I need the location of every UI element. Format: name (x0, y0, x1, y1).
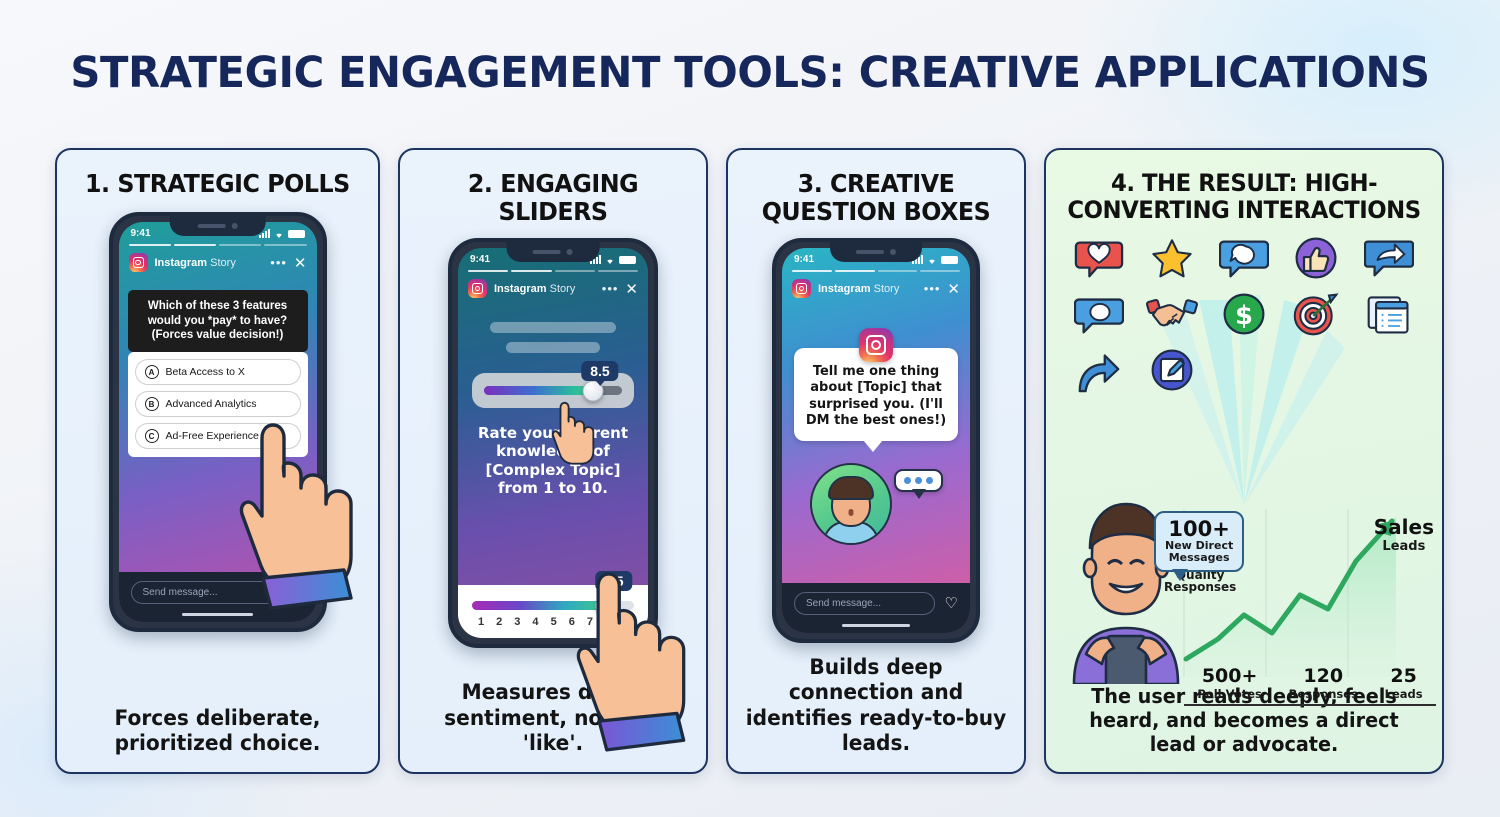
poll-question: Which of these 3 features would you *pay… (128, 290, 308, 352)
avatar-mouth (848, 509, 853, 516)
option-label: Ad-Free Experience (166, 430, 259, 442)
story-reply-bar: Send message... ♡ (782, 583, 970, 621)
callout-value: 100+ (1165, 518, 1233, 541)
stat-poll-votes: 500+ Poll Votes (1197, 667, 1262, 701)
panels-row: 1. STRATEGIC POLLS 9:41 (55, 148, 1447, 774)
edit-square-icon (1146, 344, 1198, 396)
story-header: Instagram Story ••• ✕ (782, 272, 970, 302)
status-time: 9:41 (794, 254, 814, 265)
stat-label: Responses (1289, 687, 1358, 701)
battery-icon (941, 256, 958, 264)
new-direct-messages-callout: 100+ New Direct Messages (1154, 511, 1244, 572)
comment-bubble-icon (1073, 288, 1125, 340)
poll-options-card: A Beta Access to X B Advanced Analytics … (128, 352, 308, 457)
instagram-logo-icon (468, 279, 487, 298)
sales-sub: Leads (1374, 539, 1434, 554)
scale-value-bubble: 8.5 (595, 571, 632, 591)
scale-tick: 5 (545, 616, 563, 628)
panel-engaging-sliders[interactable]: 2. ENGAGING SLIDERS 9:41 (398, 148, 708, 774)
result-visualization: 100+ New Direct Messages 120 Quality Res… (1046, 396, 1442, 772)
close-icon[interactable]: ✕ (625, 280, 638, 298)
stat-leads: 25 Leads (1385, 667, 1423, 701)
more-options-icon[interactable]: ••• (924, 281, 941, 296)
slider-track[interactable] (484, 386, 622, 395)
scale-tick: 8 (599, 616, 617, 628)
scale-tick: 7 (581, 616, 599, 628)
phone-notch (830, 242, 922, 262)
placeholder-text-lines (458, 302, 648, 359)
typing-bubble-icon (894, 469, 943, 492)
heart-icon[interactable]: ♡ (291, 583, 304, 601)
scale-fill (472, 601, 605, 610)
handshake-icon (1146, 288, 1198, 340)
story-title: Instagram Story (818, 283, 917, 295)
user-avatar-group (782, 463, 970, 545)
sales-leads-label: Sales Leads (1374, 515, 1434, 554)
story-reply-bar: Send message... ♡ (119, 572, 317, 610)
stat-value: 25 (1385, 667, 1423, 687)
home-indicator (119, 610, 317, 623)
stat-responses: 120 Responses (1289, 667, 1358, 701)
story-header: Instagram Story ••• ✕ (119, 246, 317, 276)
slider-fill (484, 386, 593, 395)
close-icon[interactable]: ✕ (294, 254, 307, 272)
option-letter: C (145, 429, 159, 443)
panel-the-result[interactable]: 4. THE RESULT: HIGH-CONVERTING INTERACTI… (1044, 148, 1444, 774)
option-label: Advanced Analytics (166, 398, 257, 410)
scale-tick: 6 (563, 616, 581, 628)
story-slider-widget[interactable]: 8.5 (472, 373, 634, 408)
stat-value: 120 (1289, 667, 1358, 687)
panel-2-caption: Measures depth sentiment, not just 'like… (406, 680, 700, 756)
send-message-input[interactable]: Send message... (131, 581, 282, 604)
stat-label: Leads (1385, 687, 1423, 701)
document-list-icon (1363, 288, 1415, 340)
phone-notch (507, 242, 600, 262)
scale-tick: 4 (526, 616, 544, 628)
scale-knob[interactable] (595, 596, 614, 615)
more-options-icon[interactable]: ••• (602, 281, 619, 296)
story-header: Instagram Story ••• ✕ (458, 272, 648, 302)
callout-line2: Messages (1165, 552, 1233, 564)
panel-strategic-polls[interactable]: 1. STRATEGIC POLLS 9:41 (55, 148, 380, 774)
avatar (810, 463, 892, 545)
option-label: Beta Access to X (166, 366, 245, 378)
story-title: Instagram Story (155, 257, 264, 269)
scale-tick: 2 (490, 616, 508, 628)
share-arrow-icon (1363, 232, 1415, 284)
rating-scale-card[interactable]: 8.5 1 2 3 4 5 6 7 8 (458, 585, 648, 638)
curved-arrow-icon (1073, 344, 1125, 396)
more-options-icon[interactable]: ••• (270, 255, 287, 270)
close-icon[interactable]: ✕ (947, 280, 960, 298)
sales-value: Sales (1374, 515, 1434, 539)
battery-icon (288, 230, 305, 238)
status-icons (259, 229, 305, 239)
panel-creative-question-boxes[interactable]: 3. CREATIVE QUESTION BOXES 9:41 (726, 148, 1026, 774)
comment-bubble-icon (1218, 232, 1270, 284)
stat-label: Poll Votes (1197, 687, 1262, 701)
poll-option-a[interactable]: A Beta Access to X (135, 359, 301, 385)
phone-mockup-2: 9:41 Instagram Story ••• ✕ (448, 238, 658, 648)
slider-prompt: Rate your current knowledge of [Complex … (458, 408, 648, 507)
phone-notch (169, 216, 266, 236)
funnel-stats-row: 500+ Poll Votes 120 Responses 25 Leads (1184, 667, 1436, 706)
scale-track[interactable] (472, 601, 634, 610)
panel-4-title: 4. THE RESULT: HIGH-CONVERTING INTERACTI… (1056, 170, 1432, 224)
instagram-logo-icon (129, 253, 148, 272)
scale-number-labels: 1 2 3 4 5 6 7 8 (472, 616, 634, 628)
phone-screen-3: 9:41 Instagram Story ••• ✕ (782, 248, 970, 633)
phone-mockup-1: 9:41 Instagram Story ••• ✕ (109, 212, 327, 632)
stat-value: 500+ (1197, 667, 1262, 687)
svg-text:$: $ (1235, 301, 1253, 331)
poll-option-b[interactable]: B Advanced Analytics (135, 391, 301, 417)
status-time: 9:41 (470, 254, 490, 265)
panel-3-caption: Builds deep connection and identifies re… (734, 655, 1018, 756)
mid-line2: Responses (1164, 581, 1236, 594)
panel-2-title: 2. ENGAGING SLIDERS (408, 170, 699, 226)
slider-value-bubble: 8.5 (581, 361, 618, 381)
question-box-widget[interactable]: Tell me one thing about [Topic] that sur… (782, 302, 970, 441)
heart-bubble-icon (1073, 232, 1125, 284)
avatar-hair (828, 476, 874, 500)
scale-tick: 3 (508, 616, 526, 628)
panel-1-caption: Forces deliberate, prioritized choice. (63, 706, 371, 756)
heart-icon[interactable]: ♡ (945, 594, 958, 612)
page-title: STRATEGIC ENGAGEMENT TOOLS: CREATIVE APP… (23, 48, 1478, 98)
send-message-input[interactable]: Send message... (794, 592, 935, 615)
dollar-coin-icon: $ (1218, 288, 1270, 340)
phone-mockup-3: 9:41 Instagram Story ••• ✕ (772, 238, 980, 643)
panel-3-title: 3. CREATIVE QUESTION BOXES (735, 170, 1016, 226)
star-icon (1146, 232, 1198, 284)
instagram-logo-icon (792, 279, 811, 298)
target-icon (1290, 288, 1342, 340)
wifi-icon (926, 255, 938, 265)
phone-screen-1: 9:41 Instagram Story ••• ✕ (119, 222, 317, 622)
option-letter: B (145, 397, 159, 411)
panel-1-title: 1. STRATEGIC POLLS (79, 170, 355, 198)
option-letter: A (145, 365, 159, 379)
battery-icon (619, 256, 636, 264)
engagement-icon-cloud: $ (1064, 232, 1424, 396)
scale-tick: 1 (472, 616, 490, 628)
phone-screen-2: 9:41 Instagram Story ••• ✕ (458, 248, 648, 638)
home-indicator (782, 621, 970, 634)
wifi-icon (604, 255, 616, 265)
story-title: Instagram Story (494, 283, 595, 295)
thumbs-up-icon (1290, 232, 1342, 284)
instagram-logo-icon-large (859, 328, 893, 362)
status-time: 9:41 (131, 228, 151, 239)
wifi-icon (273, 229, 285, 239)
poll-option-c[interactable]: C Ad-Free Experience (135, 423, 301, 449)
